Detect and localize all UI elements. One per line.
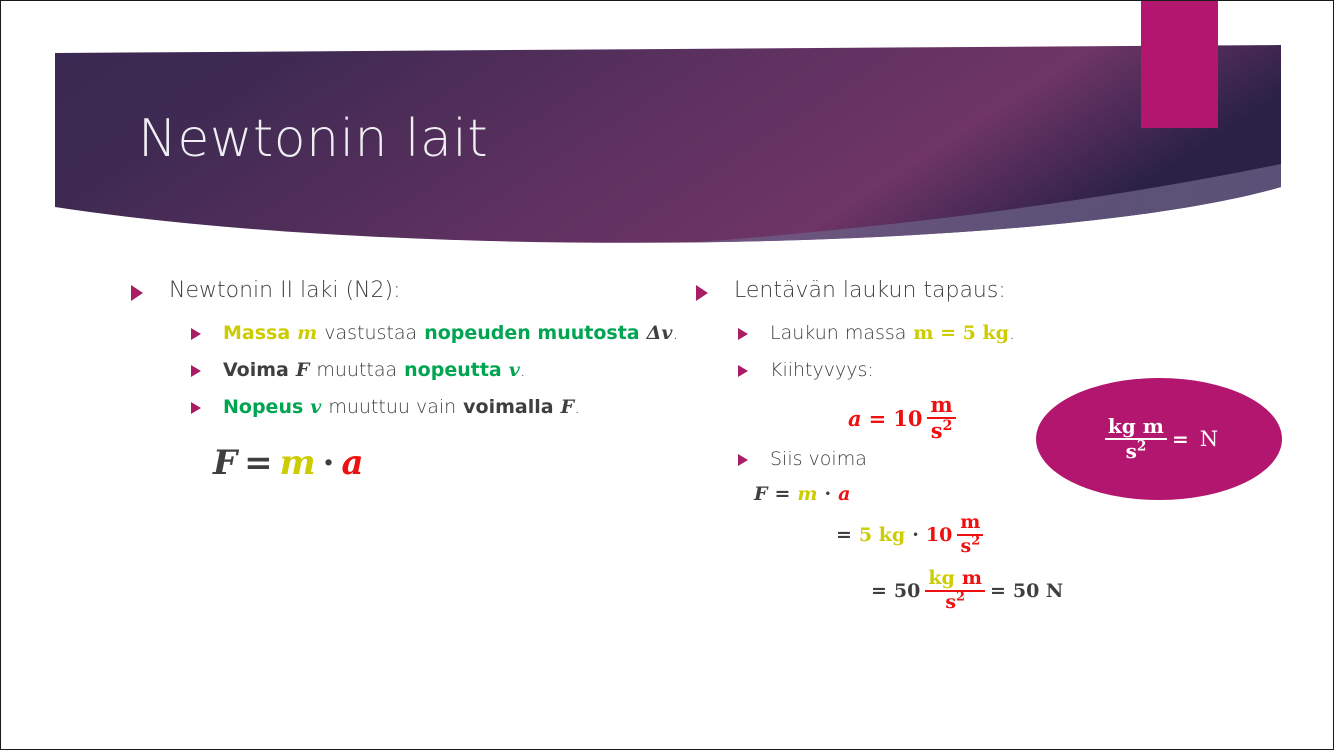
period: . — [672, 322, 678, 344]
term-massa: Massa — [223, 322, 290, 344]
symbol-v: v — [509, 359, 520, 381]
fraction-numerator: m — [927, 394, 955, 417]
eq-equals: = — [1172, 427, 1189, 451]
equation-newton-second-law: F = m · a — [213, 443, 701, 483]
acceleration-label: Kiihtyvyys: — [770, 357, 874, 384]
eq-equals-1: = — [871, 580, 887, 602]
term-nopeus: Nopeus — [223, 396, 303, 418]
fraction-numerator: kgm — [925, 569, 985, 590]
eq-symbol-m: m — [280, 443, 316, 483]
symbol-F: F — [296, 359, 310, 381]
equation-force-line3: = 50 kgm s2 = 50 N — [871, 569, 1126, 613]
unit-kg: kg — [1108, 414, 1136, 438]
symbol-delta-v: Δv — [647, 322, 673, 344]
symbol-m: m — [297, 322, 317, 344]
term-nopeuden-muutosta: nopeuden muutosta — [424, 322, 639, 344]
fraction-denominator: s2 — [1105, 438, 1167, 462]
page-title: Newtonin lait — [138, 109, 488, 169]
bullet-triangle-icon — [191, 402, 201, 414]
equation-force-line1: F = m · a — [754, 483, 1126, 505]
bullet-triangle-icon — [191, 365, 201, 377]
exponent-2: 2 — [943, 418, 953, 434]
unit-s: s — [945, 591, 956, 613]
equation-force-line2: = 5 kg · 10 m s2 — [836, 513, 1126, 557]
equation-unit-newton: kgm s2 = N — [1100, 416, 1218, 462]
term-voima: Voima — [223, 359, 289, 381]
bullet-triangle-icon — [738, 365, 748, 377]
exponent-2: 2 — [971, 534, 980, 549]
list-item-acceleration: Kiihtyvyys: — [738, 357, 1126, 384]
bullet-triangle-icon — [738, 454, 748, 466]
eq-equals-2: = — [990, 580, 1006, 602]
period: . — [520, 359, 526, 381]
list-item-mass: Laukun massam = 5 kg. — [738, 320, 1126, 347]
slide: Newtonin lait Newtonin II laki (N2): Mas… — [0, 0, 1334, 750]
right-heading-bullet: Lentävän laukun tapaus: — [696, 276, 1126, 306]
eq-equals: = — [775, 483, 791, 505]
left-sub-list: Massamvastustaanopeuden muutostaΔv. Voim… — [191, 320, 701, 421]
right-heading-text: Lentävän laukun tapaus: — [734, 276, 1006, 306]
list-item: Nopeusvmuuttuu vainvoimallaF. — [191, 394, 701, 421]
eq-symbol-F: F — [754, 483, 768, 505]
fraction-denominator: s2 — [925, 590, 985, 613]
eq-result-value: 50 — [894, 580, 920, 602]
unit-kg: kg — [928, 567, 954, 589]
bullet-triangle-icon — [191, 328, 201, 340]
left-heading-bullet: Newtonin II laki (N2): — [131, 276, 701, 306]
eq-equals: = — [244, 443, 273, 483]
fraction-m-per-s2: m s2 — [957, 513, 983, 557]
eq-dot: · — [912, 524, 919, 546]
force-label: Siis voima — [770, 446, 867, 473]
term-voimalla: voimalla — [463, 396, 553, 418]
word-muuttaa: muuttaa — [316, 359, 397, 381]
left-point-2: VoimaFmuuttaanopeuttav. — [223, 357, 526, 384]
list-item: Massamvastustaanopeuden muutostaΔv. — [191, 320, 701, 347]
eq-mass-value: 5 kg — [859, 524, 905, 546]
eq-dot: · — [323, 443, 335, 483]
eq-value: 10 — [893, 406, 922, 431]
eq-accel-value: 10 — [926, 524, 952, 546]
fraction-kgm-per-s2: kgm s2 — [925, 569, 985, 613]
fraction-numerator: m — [957, 513, 983, 534]
word-vastustaa: vastustaa — [324, 322, 417, 344]
eq-symbol-F: F — [213, 443, 237, 483]
exponent-2: 2 — [956, 590, 965, 605]
eq-symbol-a: a — [838, 483, 850, 505]
mass-value: m = 5 kg — [913, 322, 1009, 344]
fraction-m-per-s2: m s2 — [927, 394, 955, 442]
left-heading-text: Newtonin II laki (N2): — [169, 276, 401, 306]
accent-rectangle — [1141, 1, 1218, 128]
bullet-triangle-icon — [738, 328, 748, 340]
eq-symbol-m: m — [797, 483, 817, 505]
term-nopeutta: nopeutta — [404, 359, 502, 381]
exponent-2: 2 — [1137, 438, 1146, 454]
eq-equals: = — [836, 524, 852, 546]
eq-equals: = — [869, 406, 887, 431]
unit-s: s — [1126, 439, 1137, 463]
mass-label: Laukun massa — [770, 322, 906, 344]
unit-callout-ellipse: kgm s2 = N — [1036, 378, 1282, 500]
slide-body: Newtonin II laki (N2): Massamvastustaano… — [1, 276, 1334, 736]
left-point-1: Massamvastustaanopeuden muutostaΔv. — [223, 320, 678, 347]
fraction-denominator: s2 — [957, 534, 983, 557]
phrase-muuttuu-vain: muuttuu vain — [328, 396, 456, 418]
mass-line: Laukun massam = 5 kg. — [770, 320, 1015, 347]
eq-symbol-a: a — [341, 443, 363, 483]
fraction-denominator: s2 — [927, 417, 955, 442]
period: . — [574, 396, 580, 418]
eq-symbol-a: a — [848, 406, 862, 431]
fraction-numerator: kgm — [1105, 416, 1167, 438]
symbol-v: v — [310, 396, 321, 418]
bullet-triangle-icon — [696, 285, 708, 301]
symbol-F: F — [561, 396, 575, 418]
unit-s: s — [931, 418, 943, 443]
unit-s: s — [961, 535, 972, 557]
unit-m: m — [962, 567, 982, 589]
period: . — [1009, 322, 1015, 344]
list-item: VoimaFmuuttaanopeuttav. — [191, 357, 701, 384]
unit-newton: N — [1200, 427, 1218, 451]
eq-dot: · — [825, 483, 832, 505]
eq-final-result: 50 N — [1013, 580, 1063, 602]
unit-m: m — [1143, 414, 1164, 438]
fraction-kgm-per-s2: kgm s2 — [1105, 416, 1167, 462]
left-column: Newtonin II laki (N2): Massamvastustaano… — [131, 276, 701, 483]
left-point-3: Nopeusvmuuttuu vainvoimallaF. — [223, 394, 580, 421]
bullet-triangle-icon — [131, 285, 143, 301]
